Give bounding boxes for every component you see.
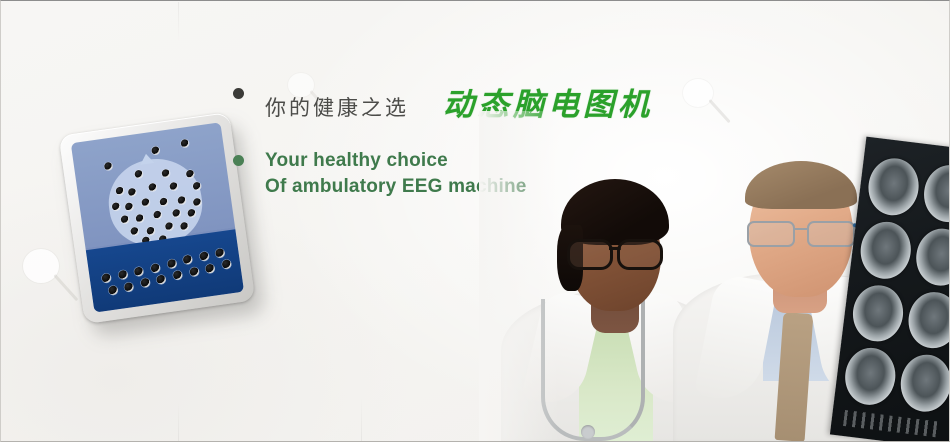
background-seam — [361, 397, 362, 442]
ct-brain-slice — [850, 282, 907, 344]
socket-port — [189, 267, 199, 277]
ct-brain-slice — [913, 226, 949, 288]
socket-port — [156, 275, 166, 285]
socket-port — [101, 273, 111, 283]
glasses-lens-left — [747, 221, 795, 247]
eeg-device-image — [59, 112, 256, 324]
electrode-port — [180, 139, 189, 148]
eyeglasses — [745, 221, 857, 245]
socket-port — [124, 282, 134, 292]
film-label-strip — [843, 410, 940, 438]
device-socket-band — [86, 229, 244, 313]
socket-port — [134, 266, 144, 276]
head-diagram-nose — [139, 152, 154, 164]
ct-brain-slice — [865, 155, 922, 217]
socket-port — [183, 255, 193, 265]
socket-port — [199, 251, 209, 261]
ct-brain-slice — [858, 219, 915, 281]
socket-port — [205, 263, 215, 273]
socket-port — [215, 248, 225, 258]
socket-port — [108, 285, 118, 295]
ct-brain-slice — [921, 162, 949, 224]
green-bullet-icon — [233, 155, 244, 166]
ct-brain-slice — [898, 352, 949, 414]
chinese-lead-text: 你的健康之选 — [265, 92, 409, 122]
hair — [745, 161, 857, 209]
socket-port — [166, 258, 176, 268]
doctors-photo — [479, 111, 949, 441]
socket-port — [150, 263, 160, 273]
glasses-lens-right — [617, 239, 663, 270]
ct-brain-slice — [905, 289, 949, 351]
glasses-lens-right — [807, 221, 855, 247]
socket-port — [140, 278, 150, 288]
background-seam — [178, 401, 179, 442]
socket-port — [118, 270, 128, 280]
socket-port — [221, 260, 231, 270]
glasses-lens-left — [567, 239, 613, 270]
electrode-port — [115, 186, 124, 195]
device-shell — [59, 112, 256, 324]
socket-port — [173, 270, 183, 280]
dark-bullet-icon — [233, 88, 244, 99]
eyeglasses — [565, 239, 665, 265]
stethoscope-bell — [581, 425, 595, 439]
device-face-panel — [71, 122, 244, 312]
ct-brain-slice — [842, 345, 899, 407]
eeg-product-banner: 你的健康之选 动态脑电图机 Your healthy choice Of amb… — [0, 0, 950, 442]
electrode-port — [104, 162, 113, 171]
background-seam — [178, 2, 179, 42]
